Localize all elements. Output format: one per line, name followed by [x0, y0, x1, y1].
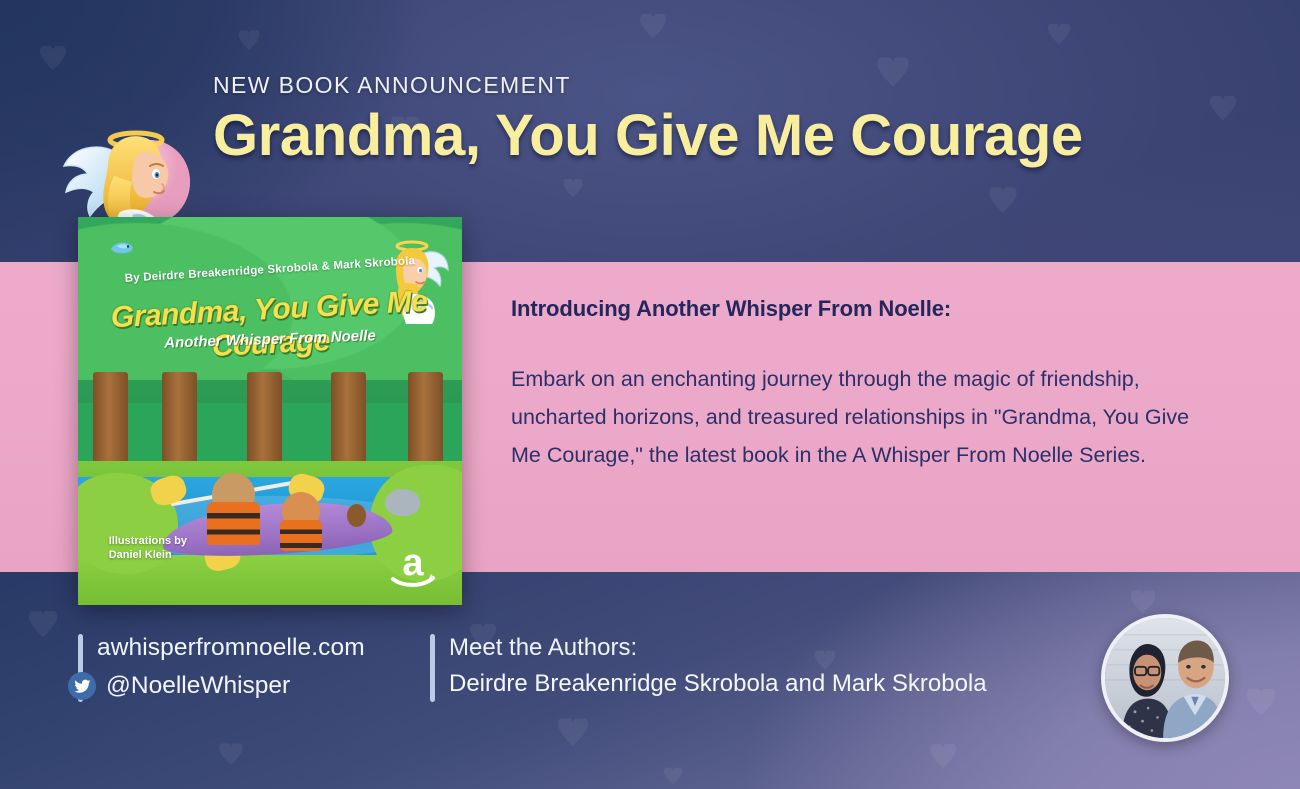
website-link[interactable]: awhisperfromnoelle.com — [97, 634, 365, 662]
kicker-text: NEW BOOK ANNOUNCEMENT — [213, 72, 571, 99]
divider-right — [430, 634, 435, 702]
twitter-handle[interactable]: @NoelleWhisper — [106, 672, 290, 700]
header: NEW BOOK ANNOUNCEMENT Grandma, You Give … — [0, 54, 1300, 194]
blue-bird-icon — [109, 240, 135, 257]
copy-heading: Introducing Another Whisper From Noelle: — [511, 296, 1221, 322]
cover-figure-child-body — [280, 520, 322, 551]
page-title: Grandma, You Give Me Courage — [213, 102, 1083, 169]
illustrator-label: Illustrations by — [109, 535, 187, 549]
copy-body: Embark on an enchanting journey through … — [511, 360, 1211, 474]
book-cover-image[interactable]: By Deirdre Breakenridge Skrobola & Mark … — [78, 217, 462, 605]
twitter-bird-icon[interactable] — [68, 672, 96, 700]
announcement-graphic: NEW BOOK ANNOUNCEMENT Grandma, You Give … — [0, 0, 1300, 789]
svg-text:a: a — [402, 542, 424, 584]
cover-rock — [385, 489, 420, 516]
amazon-logo[interactable]: a — [385, 541, 441, 589]
meet-authors-label: Meet the Authors: — [449, 634, 637, 662]
author-names: Deirdre Breakenridge Skrobola and Mark S… — [449, 670, 987, 698]
cover-illustrator-credit: Illustrations by Daniel Klein — [109, 535, 187, 563]
twitter-handle-row[interactable]: @NoelleWhisper — [68, 672, 290, 700]
copy-block: Introducing Another Whisper From Noelle:… — [511, 296, 1221, 474]
illustrator-name: Daniel Klein — [109, 549, 187, 563]
cover-tree-trunks — [78, 372, 462, 473]
cover-figure-adult-body — [207, 502, 261, 545]
author-couple-photo — [1101, 614, 1229, 742]
